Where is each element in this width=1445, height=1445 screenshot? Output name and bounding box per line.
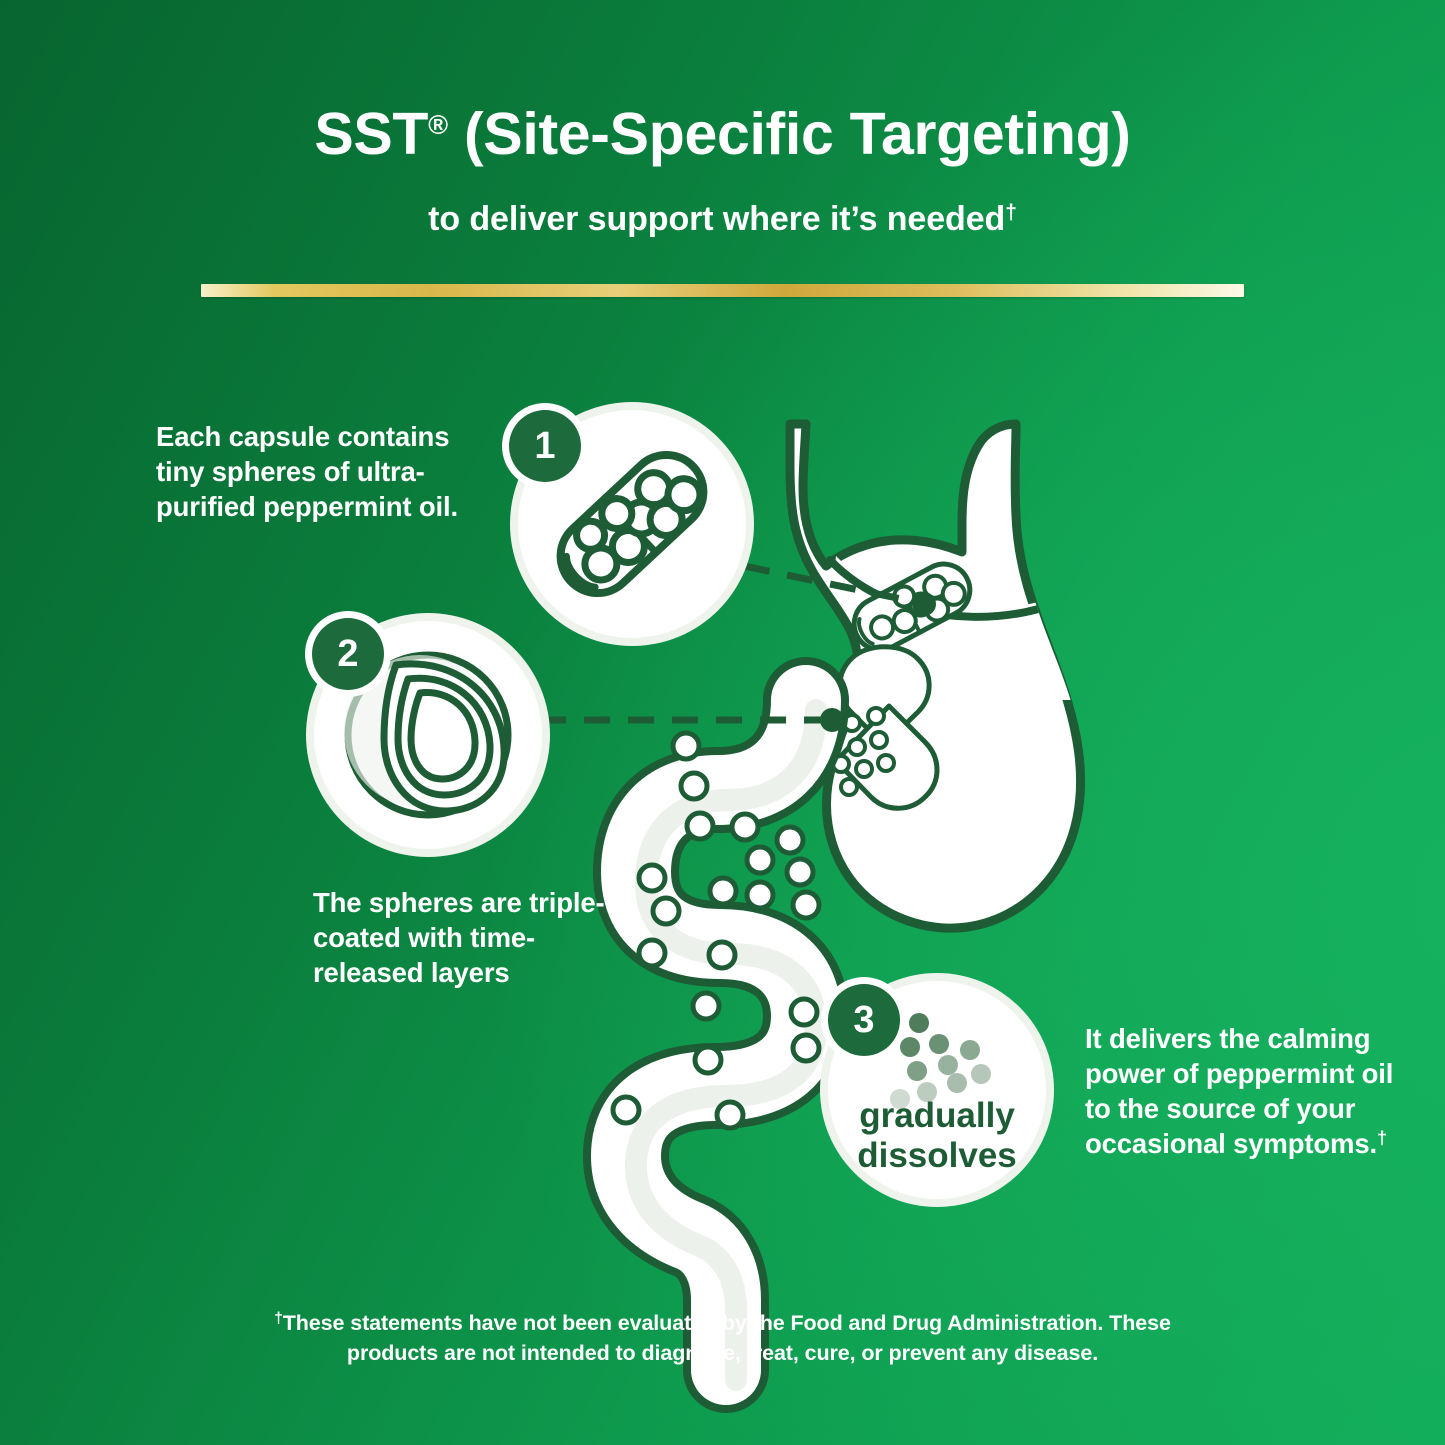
step-2-bubble[interactable]: 2 — [305, 611, 550, 857]
footnote-text: These statements have not been evaluated… — [283, 1311, 1171, 1365]
step-1-bubble[interactable]: 1 — [502, 402, 754, 646]
title-rest: (Site-Specific Targeting) — [448, 101, 1131, 167]
step-1-number: 1 — [534, 425, 555, 467]
subtitle-text: to deliver support where it’s needed — [428, 200, 1005, 238]
intestine-illustration — [613, 700, 819, 1380]
step-3-number: 3 — [853, 999, 874, 1041]
page-subtitle: to deliver support where it’s needed† — [0, 200, 1445, 239]
connector-endpoint-step1 — [912, 592, 936, 616]
footnote-disclaimer: †These statements have not been evaluate… — [0, 1308, 1445, 1368]
step-3-dagger: † — [1377, 1128, 1387, 1148]
registered-trademark-icon: ® — [428, 109, 448, 140]
dissolves-label: dissolves — [857, 1136, 1017, 1175]
step-3-description-text: It delivers the calming power of pepperm… — [1085, 1023, 1393, 1159]
connector-endpoint-step2 — [820, 708, 844, 732]
subtitle-dagger: † — [1005, 201, 1017, 224]
page-title: SST® (Site-Specific Targeting) — [0, 104, 1445, 166]
step-3-bubble[interactable]: gradually dissolves 3 — [820, 973, 1054, 1207]
footnote-dagger: † — [274, 1310, 283, 1327]
gold-divider — [201, 284, 1244, 297]
infographic-canvas: 1 2 — [0, 0, 1445, 1445]
step-3-description: It delivers the calming power of pepperm… — [1085, 1022, 1415, 1162]
step-2-description: The spheres are triple-coated with time-… — [313, 886, 613, 991]
title-main: SST — [314, 101, 428, 167]
gradually-label: gradually — [859, 1096, 1015, 1135]
step-1-description: Each capsule contains tiny spheres of ul… — [156, 420, 486, 525]
header: SST® (Site-Specific Targeting) to delive… — [0, 0, 1445, 239]
step-2-number: 2 — [337, 633, 358, 675]
